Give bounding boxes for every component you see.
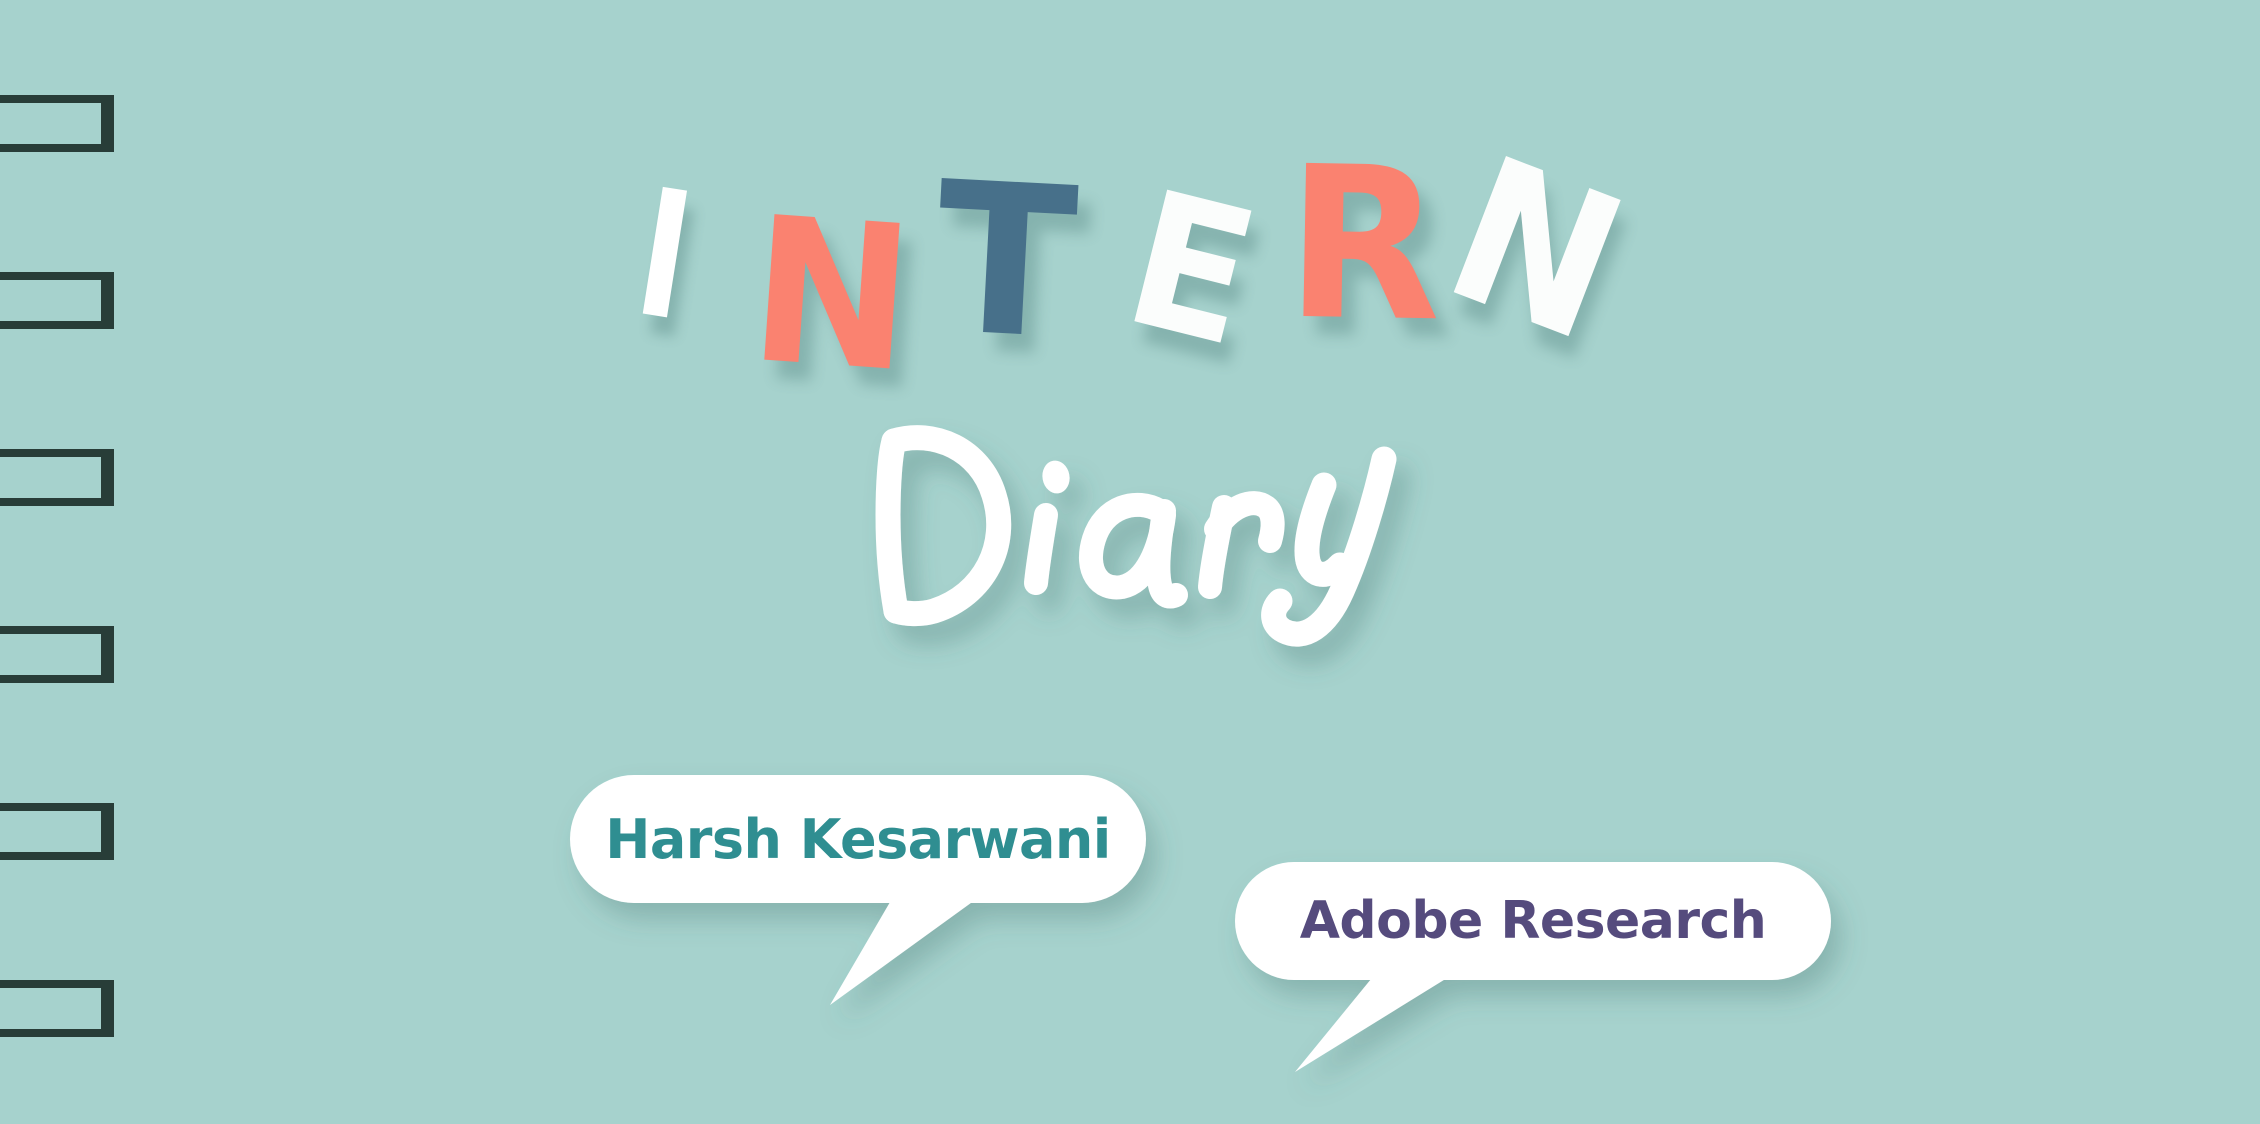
binding-ring [0,803,114,860]
binding-ring-hole [0,811,101,852]
wordmark-letter-n1: N [744,191,914,401]
binding-ring [0,449,114,506]
speech-bubble-name-body: Harsh Kesarwani [570,775,1146,903]
binding-ring [0,95,114,152]
speech-bubble-org-label: Adobe Research [1300,891,1767,951]
speech-bubble-name-label: Harsh Kesarwani [605,808,1111,871]
binding-ring-hole [0,634,101,675]
title-slide: I N T E R N [0,0,2260,1124]
binding-ring-hole [0,103,101,144]
wordmark-letter-r: R [1284,139,1439,352]
speech-bubble-org[interactable]: Adobe Research [1235,862,1831,980]
speech-bubble-org-body: Adobe Research [1235,862,1831,980]
diary-script-svg [860,415,1480,655]
diary-script-wordmark [860,415,1480,655]
speech-bubble-name[interactable]: Harsh Kesarwani [570,775,1146,903]
binding-ring [0,626,114,683]
binding-ring-hole [0,988,101,1029]
notebook-binding [0,0,120,1124]
wordmark-letter-e: E [1112,165,1267,373]
binding-ring-hole [0,280,101,321]
binding-ring-hole [0,457,101,498]
diary-strokes [888,438,1384,635]
wordmark-letter-n2: N [1426,129,1641,371]
wordmark-letter-i: I [627,165,700,346]
binding-ring [0,980,114,1037]
binding-ring [0,272,114,329]
wordmark-letter-t: T [931,155,1077,370]
